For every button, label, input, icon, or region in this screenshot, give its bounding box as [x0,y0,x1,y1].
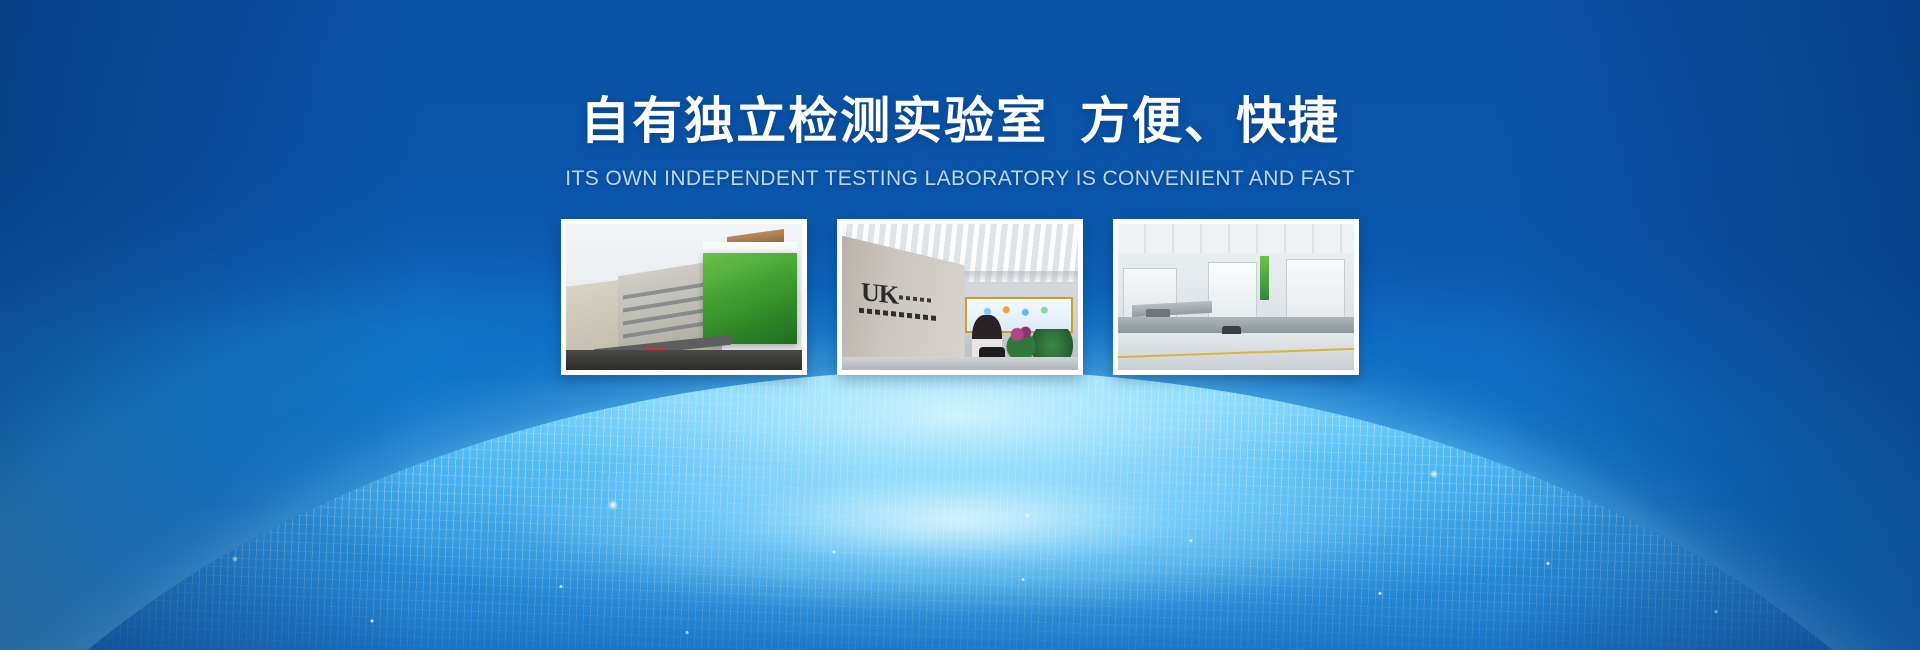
lab-ceiling [1118,224,1354,256]
reception-floor [842,357,1078,370]
street-ground [566,350,802,370]
lab-green-column [1260,256,1269,300]
photo-frame-building-exterior[interactable] [561,219,807,375]
photo-building-exterior [566,224,802,370]
city-lights [0,460,1920,650]
city-grid-overlay [0,370,1920,650]
lab-cabinet-right [1286,259,1345,325]
wall-logo-text: UK [861,278,898,312]
sparkle-icon [1024,512,1031,519]
photo-gallery: UK [0,219,1920,375]
photo-testing-laboratory [1118,224,1354,370]
banner-subtitle: ITS OWN INDEPENDENT TESTING LABORATORY I… [0,168,1920,189]
sparkle-icon [232,556,238,562]
photo-frame-office-reception[interactable]: UK [837,219,1083,375]
banner-content: 自有独立检测实验室 方便、快捷 ITS OWN INDEPENDENT TEST… [0,0,1920,375]
hero-banner: 自有独立检测实验室 方便、快捷 ITS OWN INDEPENDENT TEST… [0,0,1920,650]
lab-cabinet-middle [1208,262,1257,322]
horizon-glow [510,430,1410,610]
flower-arrangement [1002,323,1040,361]
sparkle-icon [608,500,618,510]
sparkle-icon [1430,470,1438,478]
photo-office-reception: UK [842,224,1078,370]
banner-headline: 自有独立检测实验室 方便、快捷 [0,0,1920,146]
photo-frame-testing-laboratory[interactable] [1113,219,1359,375]
globe-horizon [0,370,1920,650]
billboard-green-panel [703,253,797,344]
